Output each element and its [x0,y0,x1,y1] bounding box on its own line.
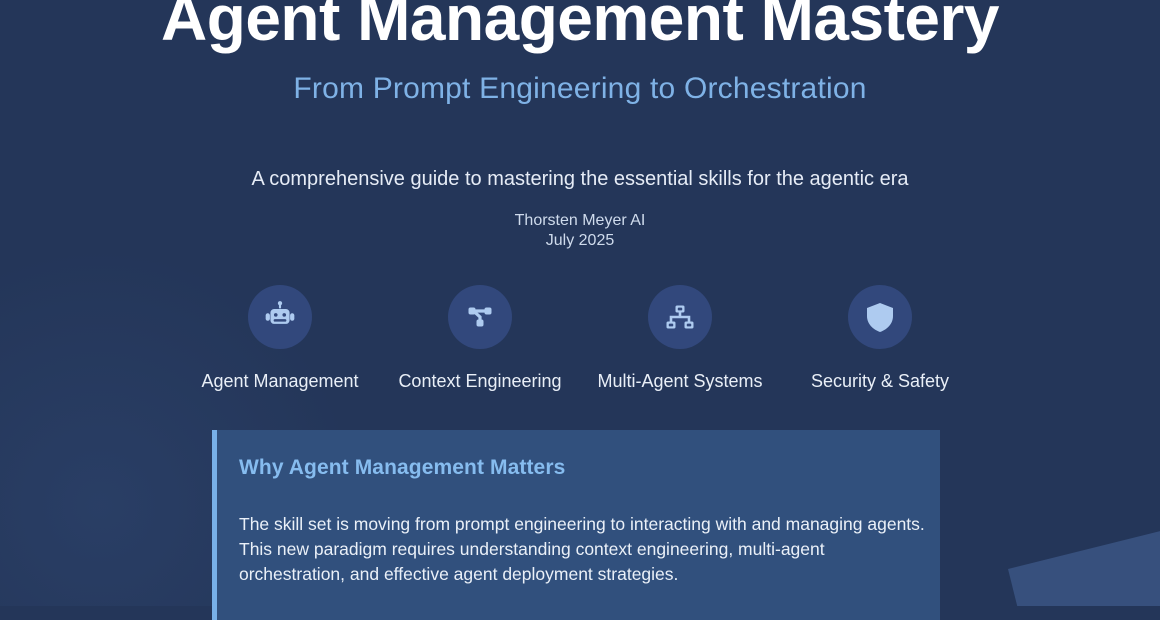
robot-icon [248,285,312,349]
pillar-label: Context Engineering [398,371,561,392]
callout-card: Why Agent Management Matters The skill s… [212,430,940,620]
sitemap-icon [648,285,712,349]
callout-body: The skill set is moving from prompt engi… [239,512,929,587]
shield-icon [848,285,912,349]
pillar-label: Security & Safety [811,371,949,392]
pillar-context-engineering[interactable]: Context Engineering [380,285,580,392]
callout-title: Why Agent Management Matters [239,456,940,480]
byline-author: Thorsten Meyer AI [0,211,1160,231]
network-share-icon [448,285,512,349]
page-title: Agent Management Mastery [0,0,1160,50]
pillar-security-safety[interactable]: Security & Safety [780,285,980,392]
pillar-label: Agent Management [201,371,358,392]
title-block: Agent Management Mastery From Prompt Eng… [0,0,1160,251]
presentation-slide: Agent Management Mastery From Prompt Eng… [0,0,1160,606]
byline-date: July 2025 [0,231,1160,251]
pillar-row: Agent Management Context Engineering [0,285,1160,392]
pillar-multi-agent-systems[interactable]: Multi-Agent Systems [580,285,780,392]
pillar-agent-management[interactable]: Agent Management [180,285,380,392]
page-tagline: A comprehensive guide to mastering the e… [0,168,1160,191]
pillar-label: Multi-Agent Systems [597,371,762,392]
page-subtitle: From Prompt Engineering to Orchestration [0,72,1160,106]
